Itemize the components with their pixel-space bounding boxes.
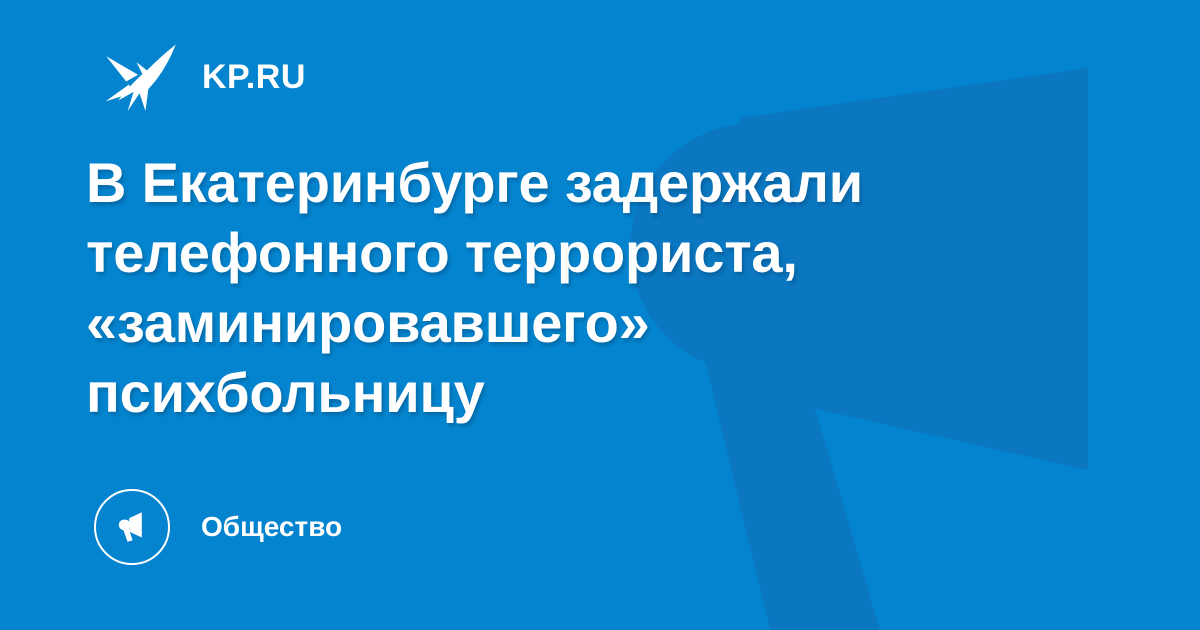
headline: В Екатеринбурге задержали телефонного те… xyxy=(86,148,966,428)
brand-name: KP.RU xyxy=(202,60,306,94)
site-logo[interactable]: KP.RU xyxy=(104,38,306,116)
category-badge[interactable]: Общество xyxy=(94,487,342,567)
swallow-bird-logo-icon xyxy=(104,40,178,114)
category-label: Общество xyxy=(201,513,342,541)
megaphone-icon xyxy=(112,507,152,547)
social-share-card: KP.RU В Екатеринбурге задержали телефонн… xyxy=(0,0,1200,630)
category-icon-circle xyxy=(94,489,170,565)
